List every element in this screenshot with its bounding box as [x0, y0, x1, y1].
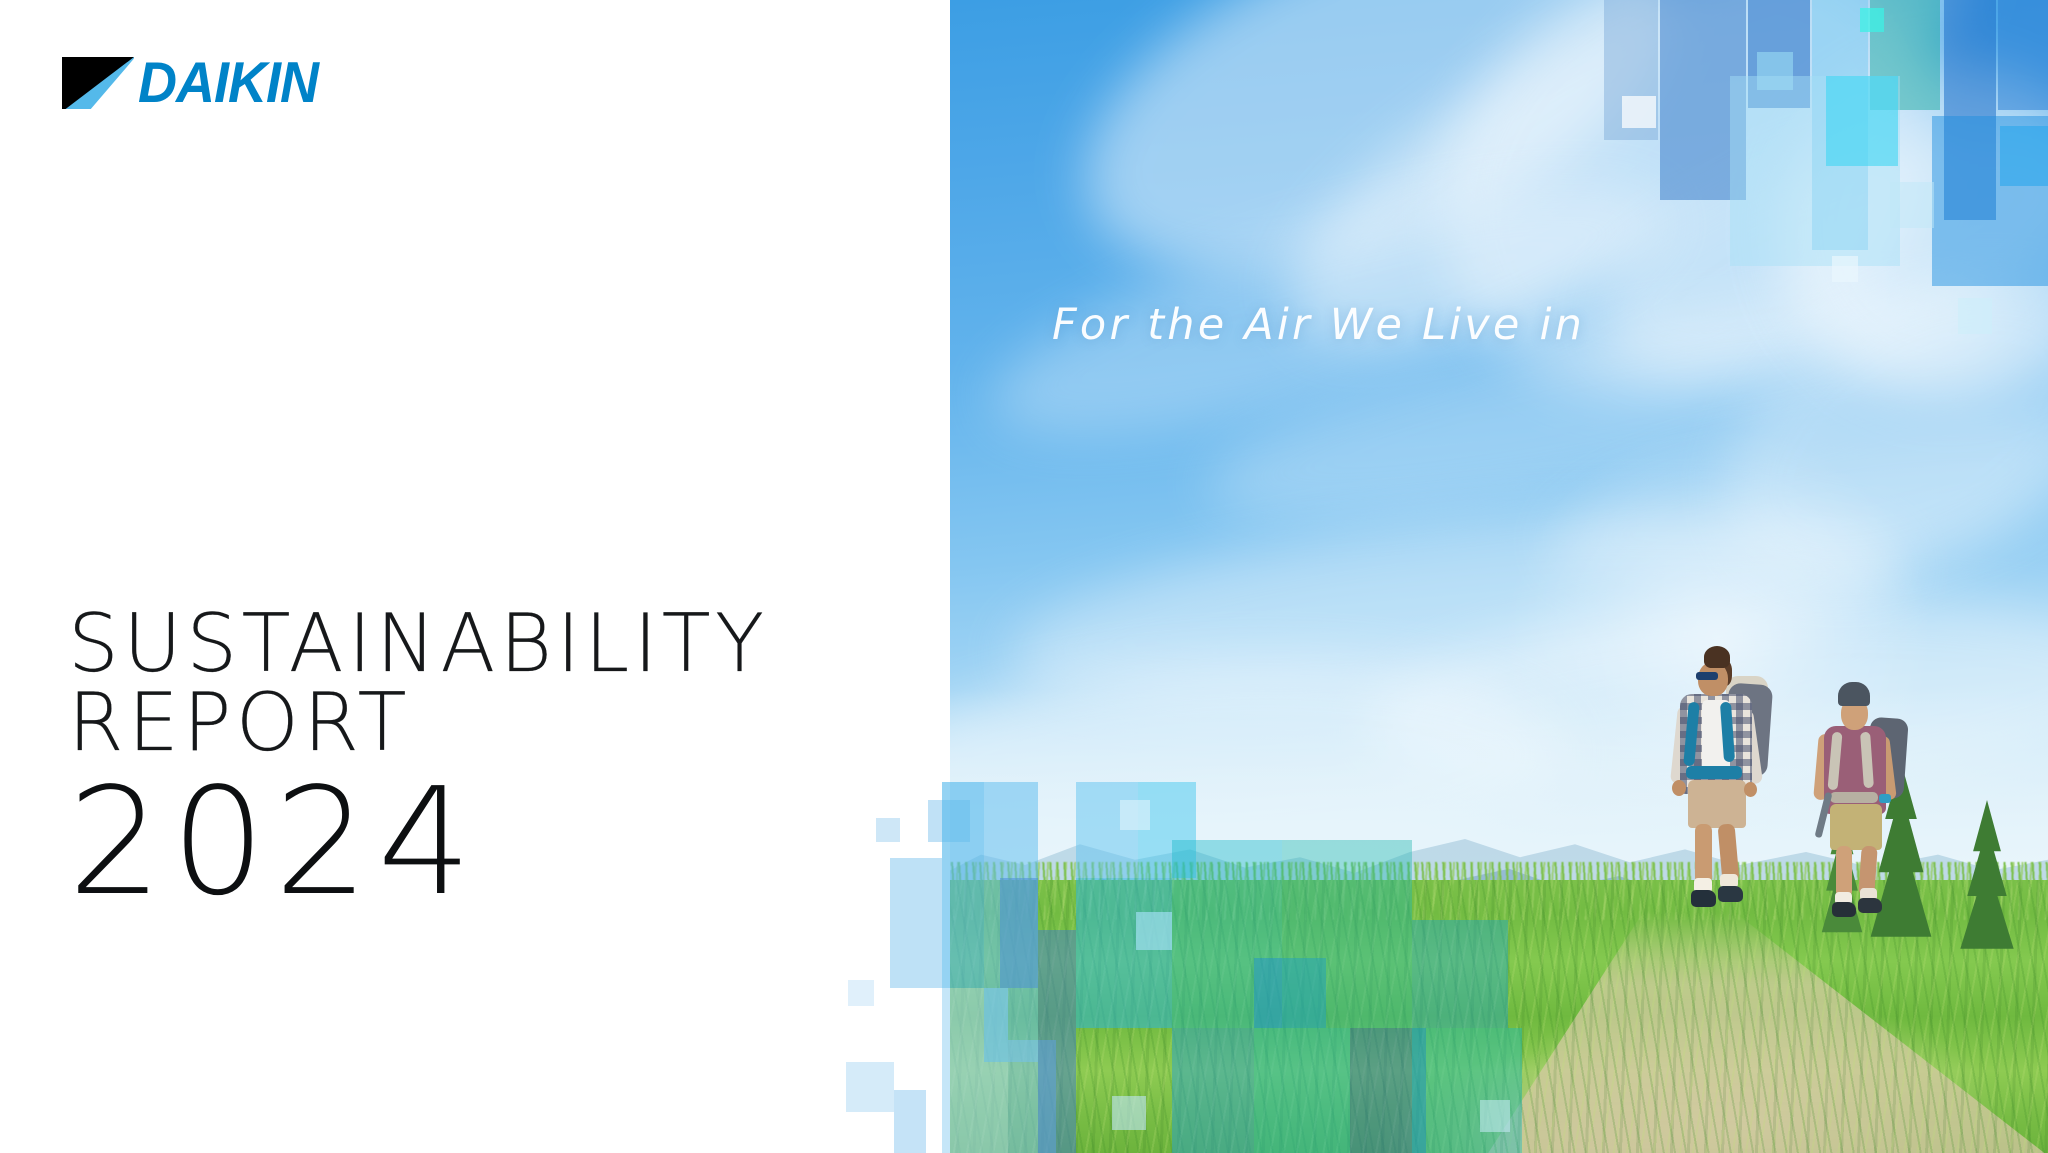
left-text-panel: DAIKIN SUSTAINABILITY REPORT 2024	[0, 0, 950, 1153]
cover-title-block: SUSTAINABILITY REPORT 2024	[68, 604, 828, 916]
cover-tagline: For the Air We Live in	[1052, 300, 1585, 350]
daikin-parallelogram-mark-icon	[62, 57, 134, 109]
sky-background	[948, 0, 2048, 880]
cover-photograph	[948, 0, 2048, 1153]
title-line-sustainability: SUSTAINABILITY	[68, 604, 828, 683]
alpine-meadow	[948, 880, 2048, 1153]
daikin-wordmark: DAIKIN	[138, 54, 318, 111]
title-line-report: REPORT	[68, 683, 828, 762]
report-cover-page: DAIKIN SUSTAINABILITY REPORT 2024 For th…	[0, 0, 2048, 1153]
cover-year: 2024	[68, 768, 828, 916]
daikin-logo[interactable]: DAIKIN	[62, 52, 392, 114]
